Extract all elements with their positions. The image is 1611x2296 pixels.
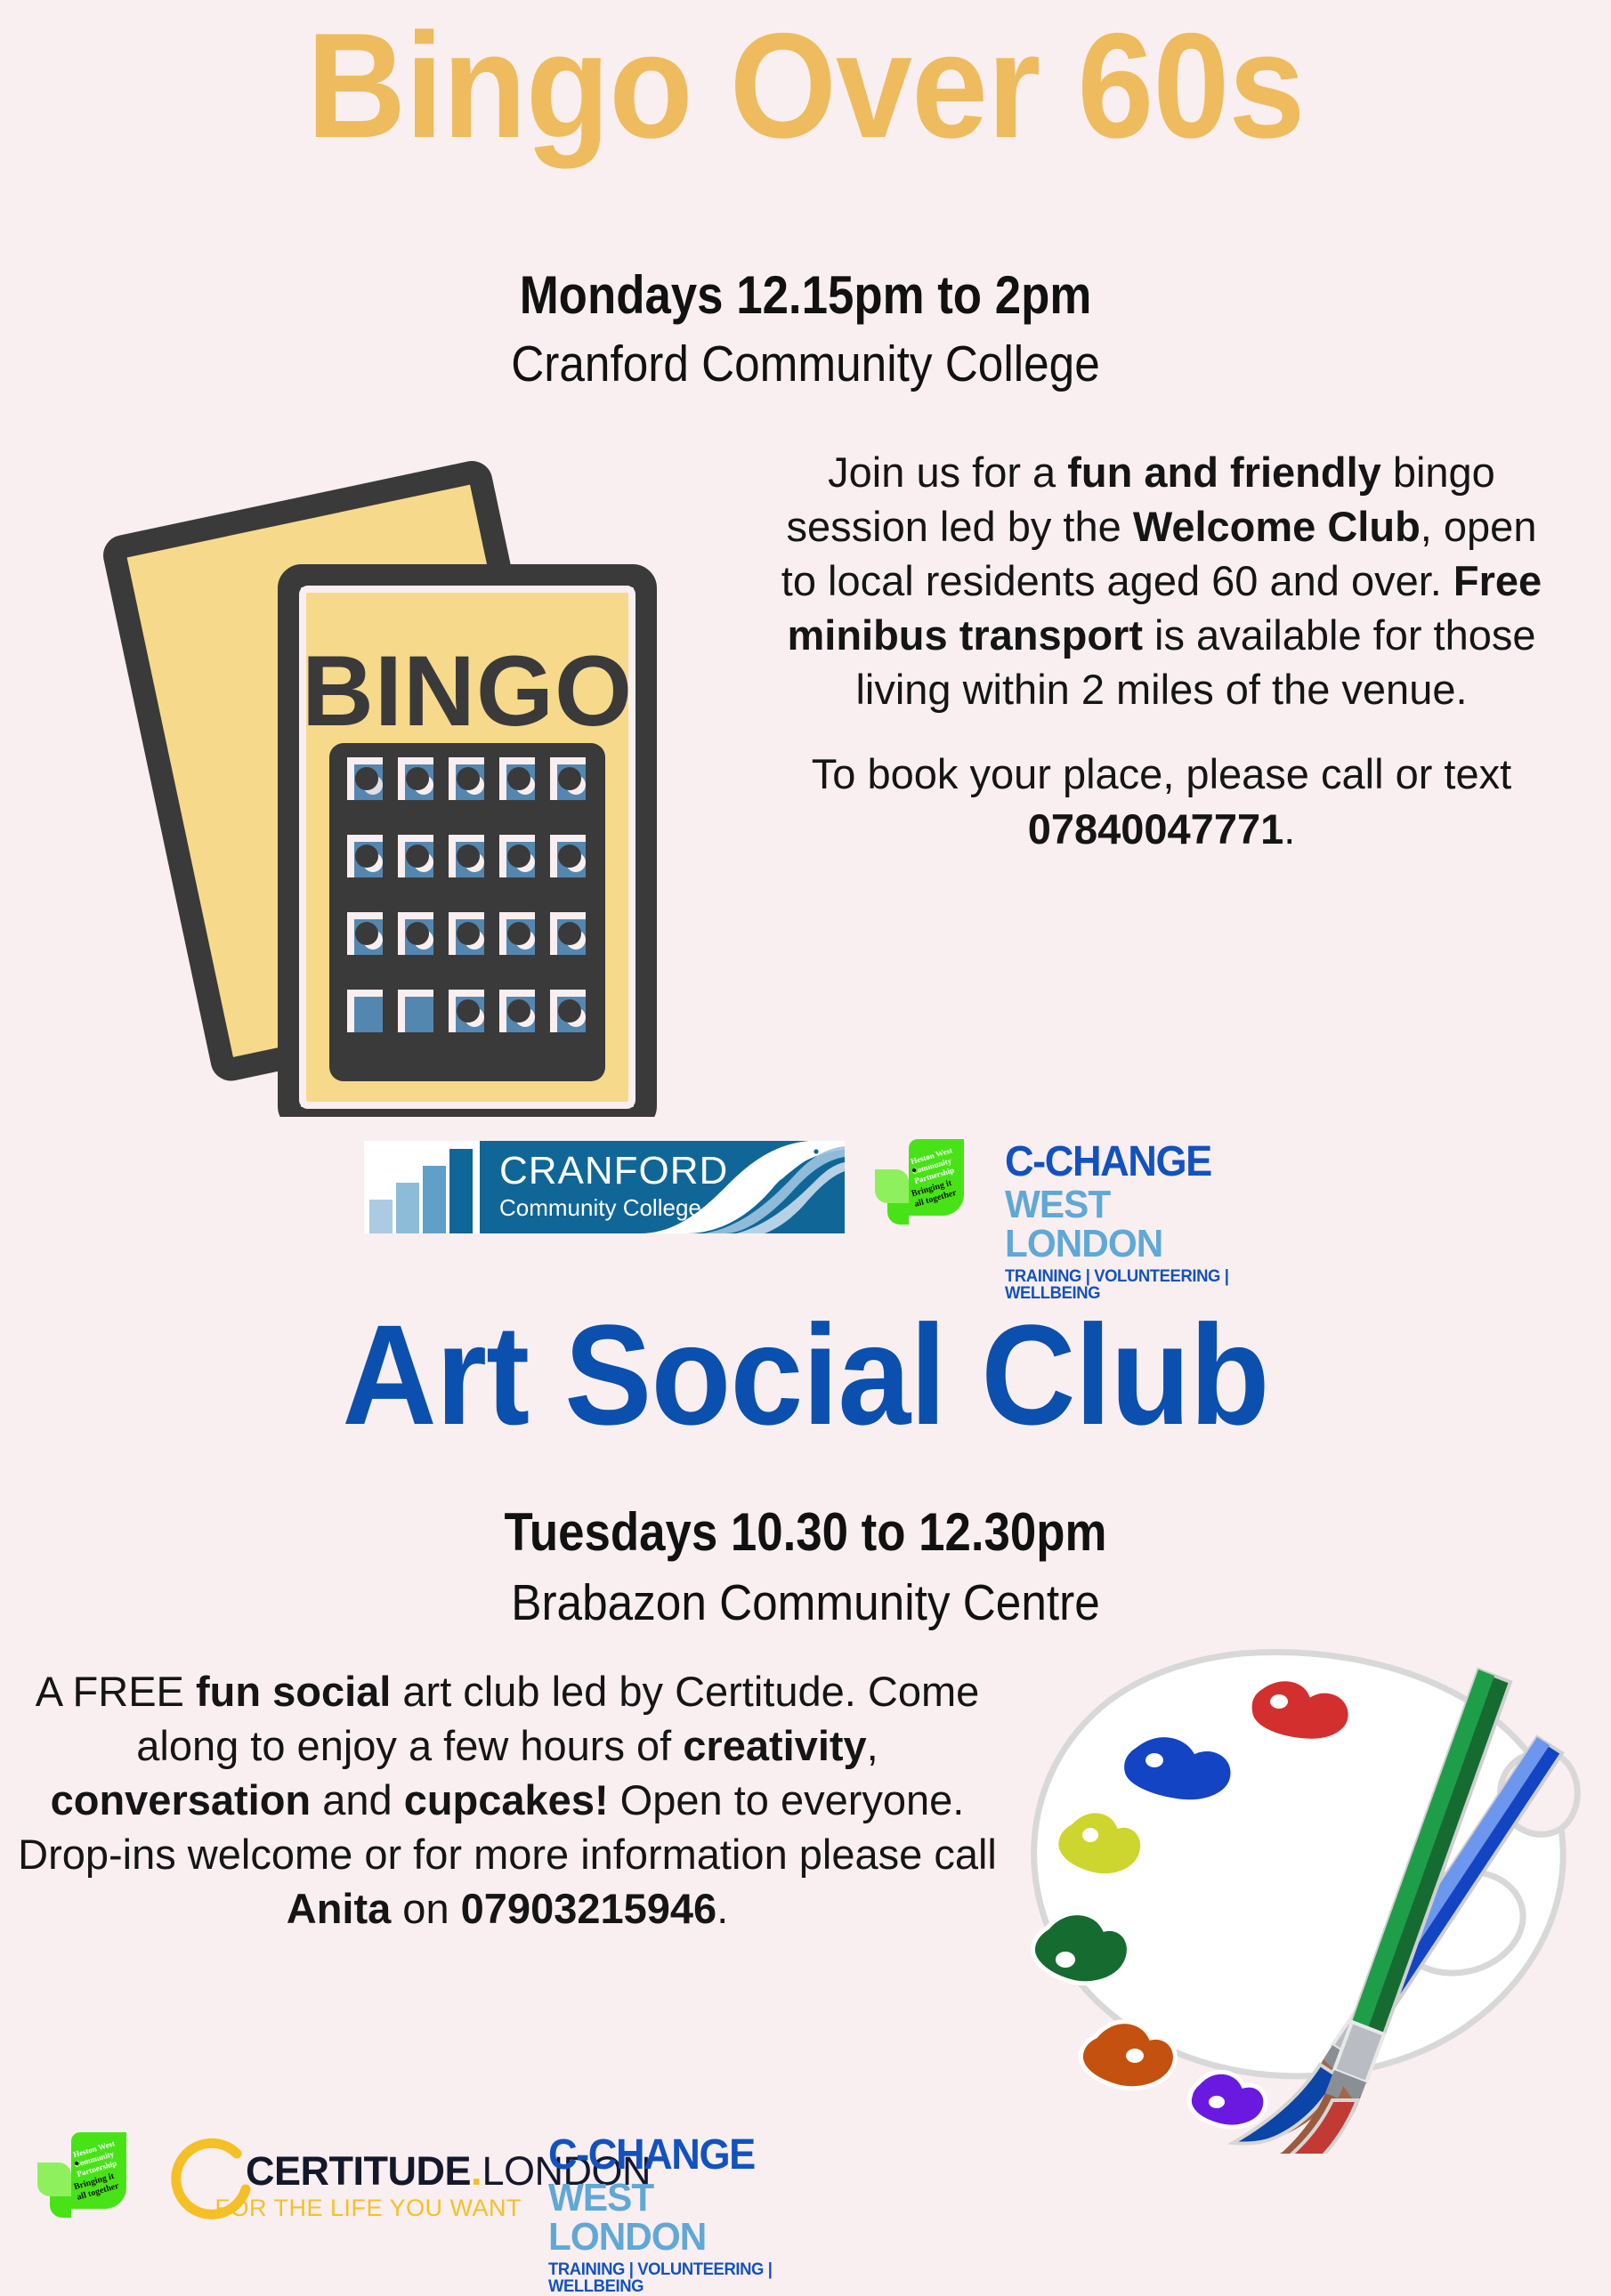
- art-title: Art Social Club: [64, 1304, 1546, 1446]
- certitude-tagline: FOR THE LIFE YOU WANT: [215, 2195, 522, 2222]
- bingo-p2-part1: To book your place, please call or text: [812, 750, 1511, 797]
- bingo-description: Join us for a fun and friendly bingo ses…: [770, 445, 1553, 856]
- art-part4: and: [311, 1776, 404, 1823]
- bingo-title: Bingo Over 60s: [64, 11, 1546, 160]
- bingo-venue: Cranford Community College: [81, 338, 1531, 392]
- art-part3: ,: [867, 1722, 878, 1769]
- cchange-line1-bottom: C-CHANGE: [548, 2134, 776, 2177]
- cranford-college-logo: CRANFORD Community College: [364, 1141, 845, 1233]
- bingo-p1-bold2: Welcome Club: [1133, 503, 1421, 550]
- art-bold1: fun social: [196, 1668, 391, 1715]
- art-bold3: conversation: [51, 1776, 312, 1823]
- bingo-logo-row: CRANFORD Community College Heston West C…: [0, 1137, 1611, 1237]
- cchange-line1: C-CHANGE: [1005, 1141, 1233, 1184]
- art-schedule: Tuesdays 10.30 to 12.30pm: [97, 1504, 1515, 1560]
- paragraph-gap: [770, 716, 1553, 747]
- bingo-p2-part2: .: [1283, 805, 1295, 853]
- paint-palette-illustration: [966, 1637, 1611, 2154]
- cchange-logo-bottom: C-CHANGE WEST LONDON TRAINING | VOLUNTEE…: [548, 2134, 790, 2227]
- heston-leaf-icon-bottom: Heston West Community Partnership Bringi…: [37, 2130, 137, 2230]
- bingo-schedule: Mondays 12.15pm to 2pm: [97, 267, 1515, 323]
- bingo-p1-part1: Join us for a: [828, 449, 1067, 496]
- cchange-line3-bottom: TRAINING | VOLUNTEERING | WELLBEING: [548, 2261, 783, 2295]
- certitude-dot: .: [471, 2148, 482, 2194]
- svg-text:BINGO: BINGO: [302, 635, 633, 747]
- art-logo-row: Heston West Community Partnership Bringi…: [37, 2127, 1105, 2234]
- art-part1: A FREE: [36, 1668, 196, 1715]
- art-part7: .: [716, 1885, 728, 1932]
- heston-west-logo: Heston West Community Partnership Bringi…: [875, 1137, 975, 1237]
- art-part6: on: [391, 1885, 460, 1932]
- art-bold4: cupcakes!: [404, 1776, 609, 1823]
- cchange-line2: WEST LONDON: [1005, 1185, 1237, 1264]
- art-description: A FREE fun social art club led by Certit…: [18, 1664, 997, 1936]
- art-venue: Brabazon Community Centre: [81, 1577, 1531, 1630]
- cchange-line2-bottom: WEST LONDON: [548, 2179, 781, 2257]
- heston-west-logo-bottom: Heston West Community Partnership Bringi…: [37, 2130, 137, 2230]
- art-contact-name: Anita: [287, 1885, 392, 1932]
- cranford-bars-icon: [364, 1141, 480, 1233]
- heston-leaf-icon: Heston West Community Partnership Bringi…: [875, 1137, 975, 1237]
- art-phone[interactable]: 07903215946: [461, 1885, 717, 1932]
- poster-root: Bingo Over 60s Mondays 12.15pm to 2pm Cr…: [0, 0, 1611, 2278]
- bingo-p1-bold1: fun and friendly: [1067, 449, 1381, 496]
- paint-blob-purple: [1189, 2072, 1265, 2127]
- bingo-card-illustration: BINGO: [62, 441, 739, 1117]
- cchange-logo-mid: C-CHANGE WEST LONDON TRAINING | VOLUNTEE…: [1005, 1141, 1247, 1233]
- certitude-london-logo: CERTITUDE.LONDON FOR THE LIFE YOU WANT: [160, 2127, 525, 2234]
- bingo-phone[interactable]: 07840047771: [1028, 805, 1284, 853]
- art-bold2: creativity: [683, 1722, 866, 1769]
- cranford-heron-icon: [640, 1141, 845, 1233]
- certitude-name: CERTITUDE: [246, 2148, 471, 2194]
